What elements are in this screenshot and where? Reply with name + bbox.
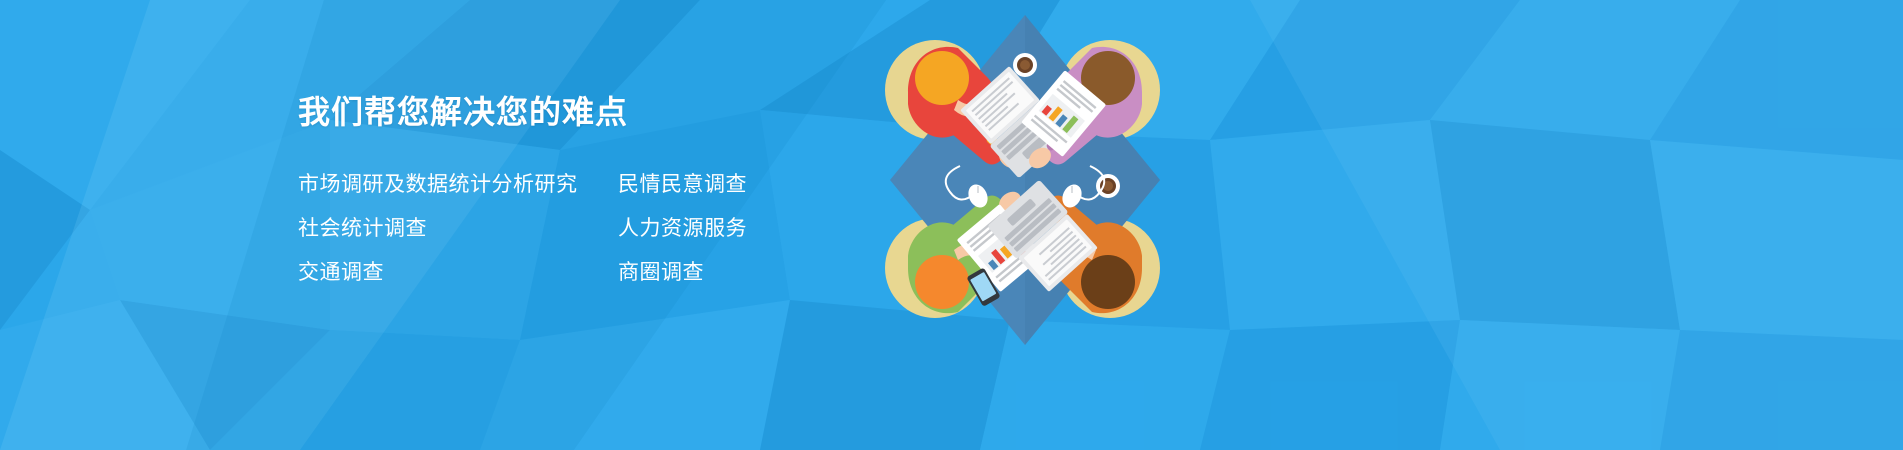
banner-text-block: 我们帮您解决您的难点 市场调研及数据统计分析研究 民情民意调查 社会统计调查 人… bbox=[298, 92, 858, 302]
service-col-left: 社会统计调查 bbox=[298, 214, 618, 244]
service-item-social-statistics[interactable]: 社会统计调查 bbox=[298, 214, 618, 244]
service-col-left: 交通调查 bbox=[298, 258, 618, 288]
service-col-right: 人力资源服务 bbox=[618, 214, 858, 244]
service-item-traffic-survey[interactable]: 交通调查 bbox=[298, 258, 618, 288]
hair-bottom-right bbox=[1081, 255, 1135, 309]
service-item-business-district[interactable]: 商圈调查 bbox=[618, 258, 858, 288]
service-row: 市场调研及数据统计分析研究 民情民意调查 bbox=[298, 170, 858, 200]
page-title: 我们帮您解决您的难点 bbox=[298, 92, 858, 132]
promo-banner: 我们帮您解决您的难点 市场调研及数据统计分析研究 民情民意调查 社会统计调查 人… bbox=[0, 0, 1903, 450]
service-item-public-opinion[interactable]: 民情民意调查 bbox=[618, 170, 858, 200]
service-item-hr-services[interactable]: 人力资源服务 bbox=[618, 214, 858, 244]
service-col-left: 市场调研及数据统计分析研究 bbox=[298, 170, 618, 200]
service-col-right: 民情民意调查 bbox=[618, 170, 858, 200]
service-row: 交通调查 商圈调查 bbox=[298, 258, 858, 288]
team-meeting-illustration bbox=[860, 0, 1190, 350]
hair-top-left bbox=[915, 51, 969, 105]
coffee-cup-top bbox=[1013, 53, 1037, 77]
service-row: 社会统计调查 人力资源服务 bbox=[298, 214, 858, 244]
hair-bottom-left bbox=[915, 255, 969, 309]
coffee-cup-right bbox=[1096, 174, 1120, 198]
service-col-right: 商圈调查 bbox=[618, 258, 858, 288]
service-item-market-research[interactable]: 市场调研及数据统计分析研究 bbox=[298, 170, 618, 200]
